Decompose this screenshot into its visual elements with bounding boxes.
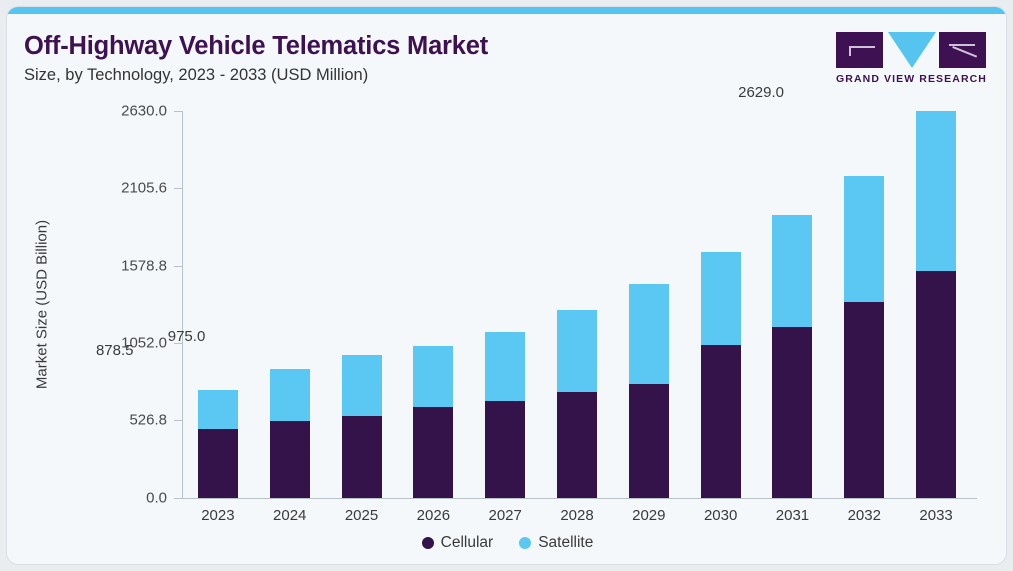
legend-color-swatch (422, 537, 434, 549)
bar-segment-cellular[interactable] (342, 416, 382, 498)
bar-segment-satellite[interactable] (701, 252, 741, 345)
y-axis-tick-label: 1578.8 (121, 257, 167, 274)
legend-item[interactable]: Satellite (519, 534, 593, 552)
chart-header: Off-Highway Vehicle Telematics Market Si… (7, 14, 1006, 96)
bar-group[interactable] (701, 252, 741, 498)
bar-segment-satellite[interactable] (198, 390, 238, 430)
logo-brand-text: GRAND VIEW RESEARCH (836, 73, 986, 85)
bar-group[interactable] (629, 284, 669, 498)
chart-card: Off-Highway Vehicle Telematics Market Si… (6, 6, 1007, 565)
bar-group[interactable] (485, 332, 525, 498)
top-accent-bar (7, 7, 1006, 14)
bar-segment-cellular[interactable] (916, 271, 956, 498)
bar-segment-satellite[interactable] (270, 369, 310, 422)
y-axis-tick-label: 2630.0 (121, 103, 167, 120)
y-axis-tick-label: 2105.6 (121, 180, 167, 197)
stacked-bar-chart: 0.0526.81052.01578.82105.62630.0 Market … (7, 96, 1007, 565)
x-axis-tick-label: 2033 (894, 507, 978, 524)
logo-g-inner-shape (849, 46, 875, 56)
bar-segment-cellular[interactable] (772, 327, 812, 498)
logo-r-icon (939, 32, 986, 68)
y-axis-tick-label: 526.8 (129, 412, 167, 429)
y-axis-title: Market Size (USD Billion) (34, 135, 51, 475)
bar-group[interactable] (844, 176, 884, 498)
bar-group[interactable] (772, 215, 812, 498)
page-subtitle: Size, by Technology, 2023 - 2033 (USD Mi… (24, 66, 368, 85)
bar-segment-satellite[interactable] (413, 346, 453, 407)
logo-g-icon (836, 32, 883, 68)
legend-label: Satellite (538, 534, 593, 552)
bar-total-label: 975.0 (145, 328, 229, 345)
bar-group[interactable] (557, 310, 597, 498)
bar-group[interactable] (342, 355, 382, 498)
grand-view-research-logo: GRAND VIEW RESEARCH (836, 32, 986, 92)
bar-segment-cellular[interactable] (485, 401, 525, 498)
bar-segment-satellite[interactable] (772, 215, 812, 328)
y-axis-tick-mark (174, 111, 182, 112)
bar-group[interactable] (198, 390, 238, 498)
bar-group[interactable] (270, 369, 310, 498)
bar-segment-satellite[interactable] (844, 176, 884, 303)
legend-item[interactable]: Cellular (422, 534, 494, 552)
legend-label: Cellular (441, 534, 494, 552)
bar-segment-satellite[interactable] (342, 355, 382, 416)
bar-segment-cellular[interactable] (629, 384, 669, 498)
bar-segment-cellular[interactable] (557, 392, 597, 498)
logo-marks (836, 32, 986, 68)
bar-segment-satellite[interactable] (916, 111, 956, 271)
bar-segment-cellular[interactable] (701, 345, 741, 498)
y-axis-tick-labels: 0.0526.81052.01578.82105.62630.0 (7, 96, 167, 565)
bar-segment-satellite[interactable] (629, 284, 669, 384)
logo-v-triangle-icon (888, 32, 936, 68)
y-axis-tick-mark (174, 266, 182, 267)
bar-segment-cellular[interactable] (198, 429, 238, 498)
page-title: Off-Highway Vehicle Telematics Market (24, 32, 488, 61)
logo-r-inner-shape (949, 44, 977, 58)
x-axis-line (182, 498, 977, 499)
y-axis-tick-mark (174, 498, 182, 499)
bar-segment-satellite[interactable] (557, 310, 597, 392)
bar-segment-satellite[interactable] (485, 332, 525, 400)
bar-segment-cellular[interactable] (270, 421, 310, 498)
bar-group[interactable] (916, 111, 956, 498)
bar-total-label: 2629.0 (719, 84, 803, 101)
y-axis-tick-label: 0.0 (146, 490, 167, 507)
bar-group[interactable] (413, 346, 453, 498)
y-axis-tick-mark (174, 420, 182, 421)
chart-legend: CellularSatellite (7, 534, 1007, 552)
legend-color-swatch (519, 537, 531, 549)
bar-segment-cellular[interactable] (844, 302, 884, 498)
plot-area (182, 111, 972, 498)
bar-segment-cellular[interactable] (413, 407, 453, 498)
y-axis-tick-mark (174, 188, 182, 189)
